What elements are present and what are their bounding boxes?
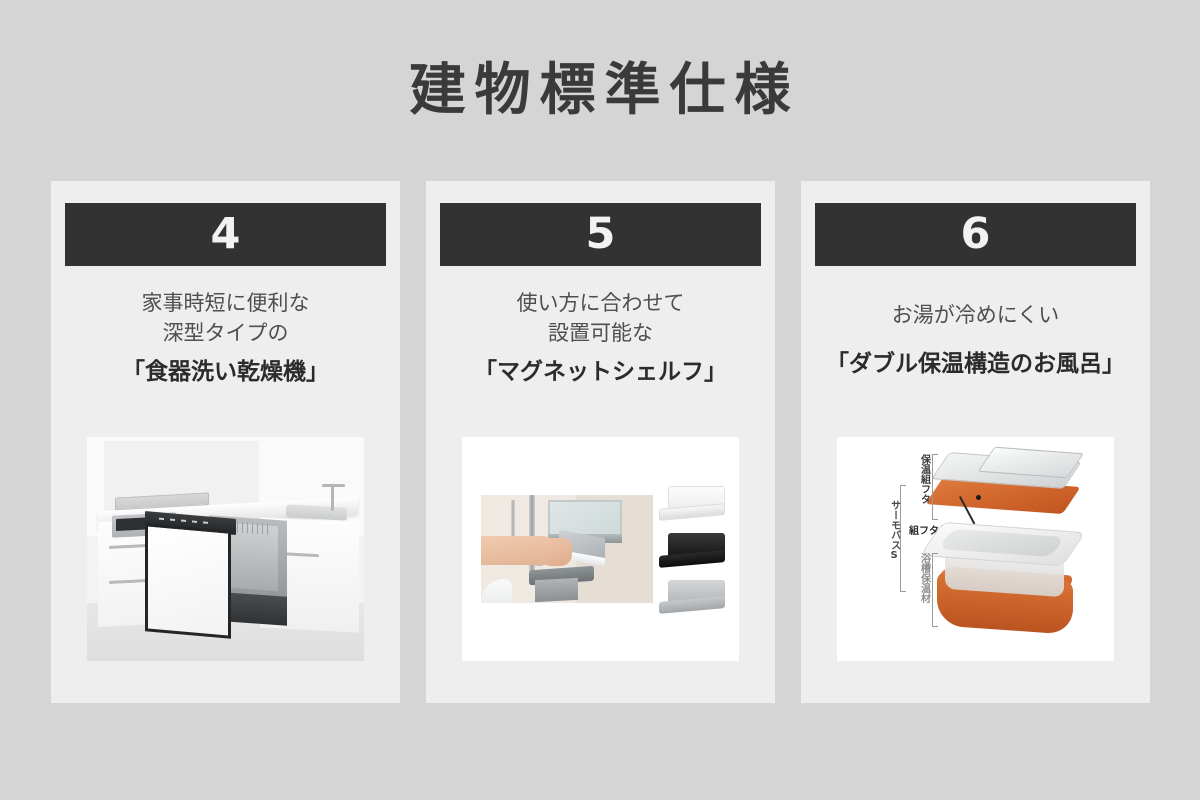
shelf-variant-black bbox=[659, 533, 725, 569]
label-lid-insulation: 保温組フタ bbox=[918, 454, 930, 504]
card-headline: 「ダブル保温構造のお風呂」 bbox=[801, 348, 1150, 380]
card-number: 6 bbox=[961, 213, 991, 256]
kitchen-illustration bbox=[87, 437, 364, 661]
spec-card-4[interactable]: 4 家事時短に便利な 深型タイプの 「食器洗い乾燥機」 bbox=[51, 181, 400, 703]
bathroom-scene bbox=[481, 495, 653, 603]
bracket-lid bbox=[932, 454, 938, 520]
card-number: 4 bbox=[211, 213, 241, 256]
callout-dot-icon bbox=[976, 495, 981, 500]
spec-card-6[interactable]: 6 お湯が冷めにくい 「ダブル保温構造のお風呂」 組フタ保温材 bbox=[801, 181, 1150, 703]
kitchen-faucet-spout-icon bbox=[322, 484, 344, 487]
card-number-bar: 5 bbox=[440, 203, 761, 266]
card-number: 5 bbox=[586, 213, 616, 256]
person-hand bbox=[538, 538, 572, 566]
bathtub-diagram-illustration: 組フタ保温材 保温組フタ サーモバスS 浴槽保温材 bbox=[837, 437, 1114, 661]
card-text-block: お湯が冷めにくい 「ダブル保温構造のお風呂」 bbox=[801, 300, 1150, 380]
dishwasher-door bbox=[145, 523, 231, 638]
card-desc-line2: 深型タイプの bbox=[51, 318, 400, 348]
page-title: 建物標準仕様 bbox=[0, 57, 1200, 125]
shelf-color-variants bbox=[659, 486, 725, 616]
bathtub-insulation-diagram: 組フタ保温材 保温組フタ サーモバスS 浴槽保温材 bbox=[837, 437, 1114, 661]
spec-cards-row: 4 家事時短に便利な 深型タイプの 「食器洗い乾燥機」 bbox=[51, 181, 1150, 703]
card-text-block: 使い方に合わせて 設置可能な 「マグネットシェルフ」 bbox=[426, 288, 775, 388]
kitchen-faucet-icon bbox=[331, 486, 334, 511]
bracket-system bbox=[900, 485, 906, 592]
card-desc-line1: お湯が冷めにくい bbox=[801, 300, 1150, 330]
dishwasher-kitchen-photo bbox=[87, 437, 364, 661]
diagram-label-group: 保温組フタ サーモバスS 浴槽保温材 bbox=[848, 446, 931, 652]
bracket-tub bbox=[932, 553, 938, 627]
card-desc-line1: 使い方に合わせて bbox=[426, 288, 775, 318]
shelf-variant-white bbox=[659, 486, 725, 522]
label-tub-insulation: 浴槽保温材 bbox=[918, 553, 930, 603]
spec-card-5[interactable]: 5 使い方に合わせて 設置可能な 「マグネットシェルフ」 bbox=[426, 181, 775, 703]
page-root: 建物標準仕様 4 家事時短に便利な 深型タイプの 「食器洗い乾燥機」 bbox=[0, 0, 1200, 800]
magnet-shelf-illustration bbox=[462, 437, 739, 661]
card-headline: 「マグネットシェルフ」 bbox=[426, 356, 775, 388]
card-headline: 「食器洗い乾燥機」 bbox=[51, 356, 400, 388]
shelf-variant-gray bbox=[659, 580, 725, 616]
label-thermo-bath: サーモバスS bbox=[888, 500, 900, 561]
card-desc-line1: 家事時短に便利な bbox=[51, 288, 400, 318]
counter-support bbox=[535, 578, 578, 602]
card-number-bar: 6 bbox=[815, 203, 1136, 266]
card-number-bar: 4 bbox=[65, 203, 386, 266]
card-desc-line2: 設置可能な bbox=[426, 318, 775, 348]
magnet-shelf-photo bbox=[462, 437, 739, 661]
card-text-block: 家事時短に便利な 深型タイプの 「食器洗い乾燥機」 bbox=[51, 288, 400, 388]
